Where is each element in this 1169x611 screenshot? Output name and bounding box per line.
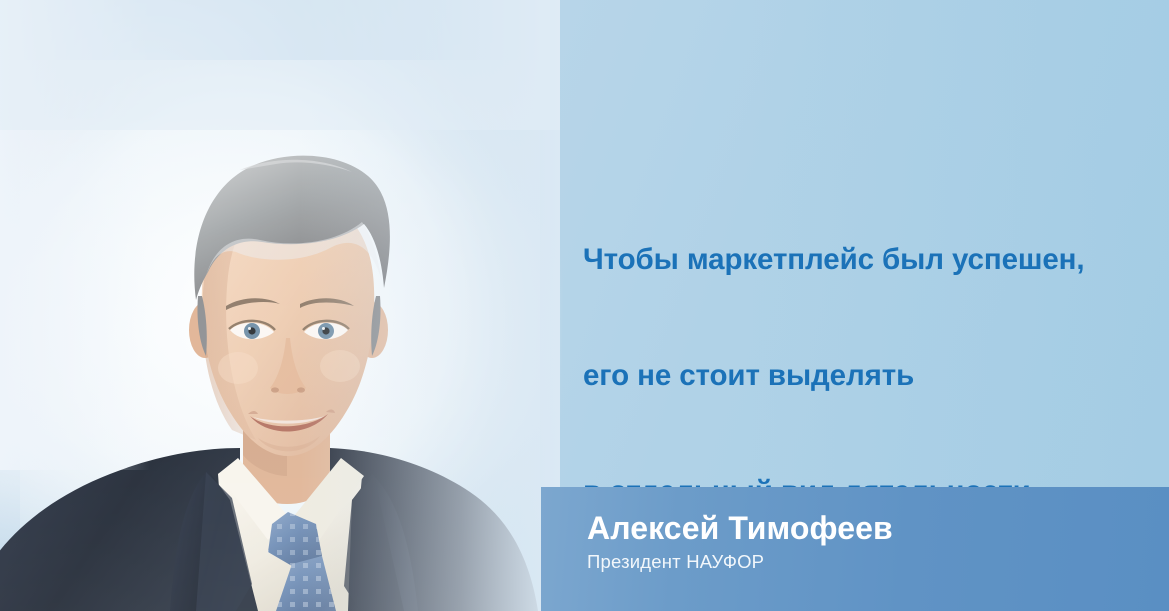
speaker-name-bar: Алексей Тимофеев Президент НАУФОР bbox=[541, 487, 1169, 611]
quote-line-2: его не стоит выделять bbox=[583, 357, 1153, 396]
quote-line-1: Чтобы маркетплейс был успешен, bbox=[583, 241, 1153, 280]
speaker-portrait-photo bbox=[0, 0, 560, 611]
quote-card: Чтобы маркетплейс был успешен, его не ст… bbox=[0, 0, 1169, 611]
portrait-illustration bbox=[0, 0, 560, 611]
speaker-name: Алексей Тимофеев bbox=[587, 510, 893, 547]
speaker-role: Президент НАУФОР bbox=[587, 551, 764, 573]
